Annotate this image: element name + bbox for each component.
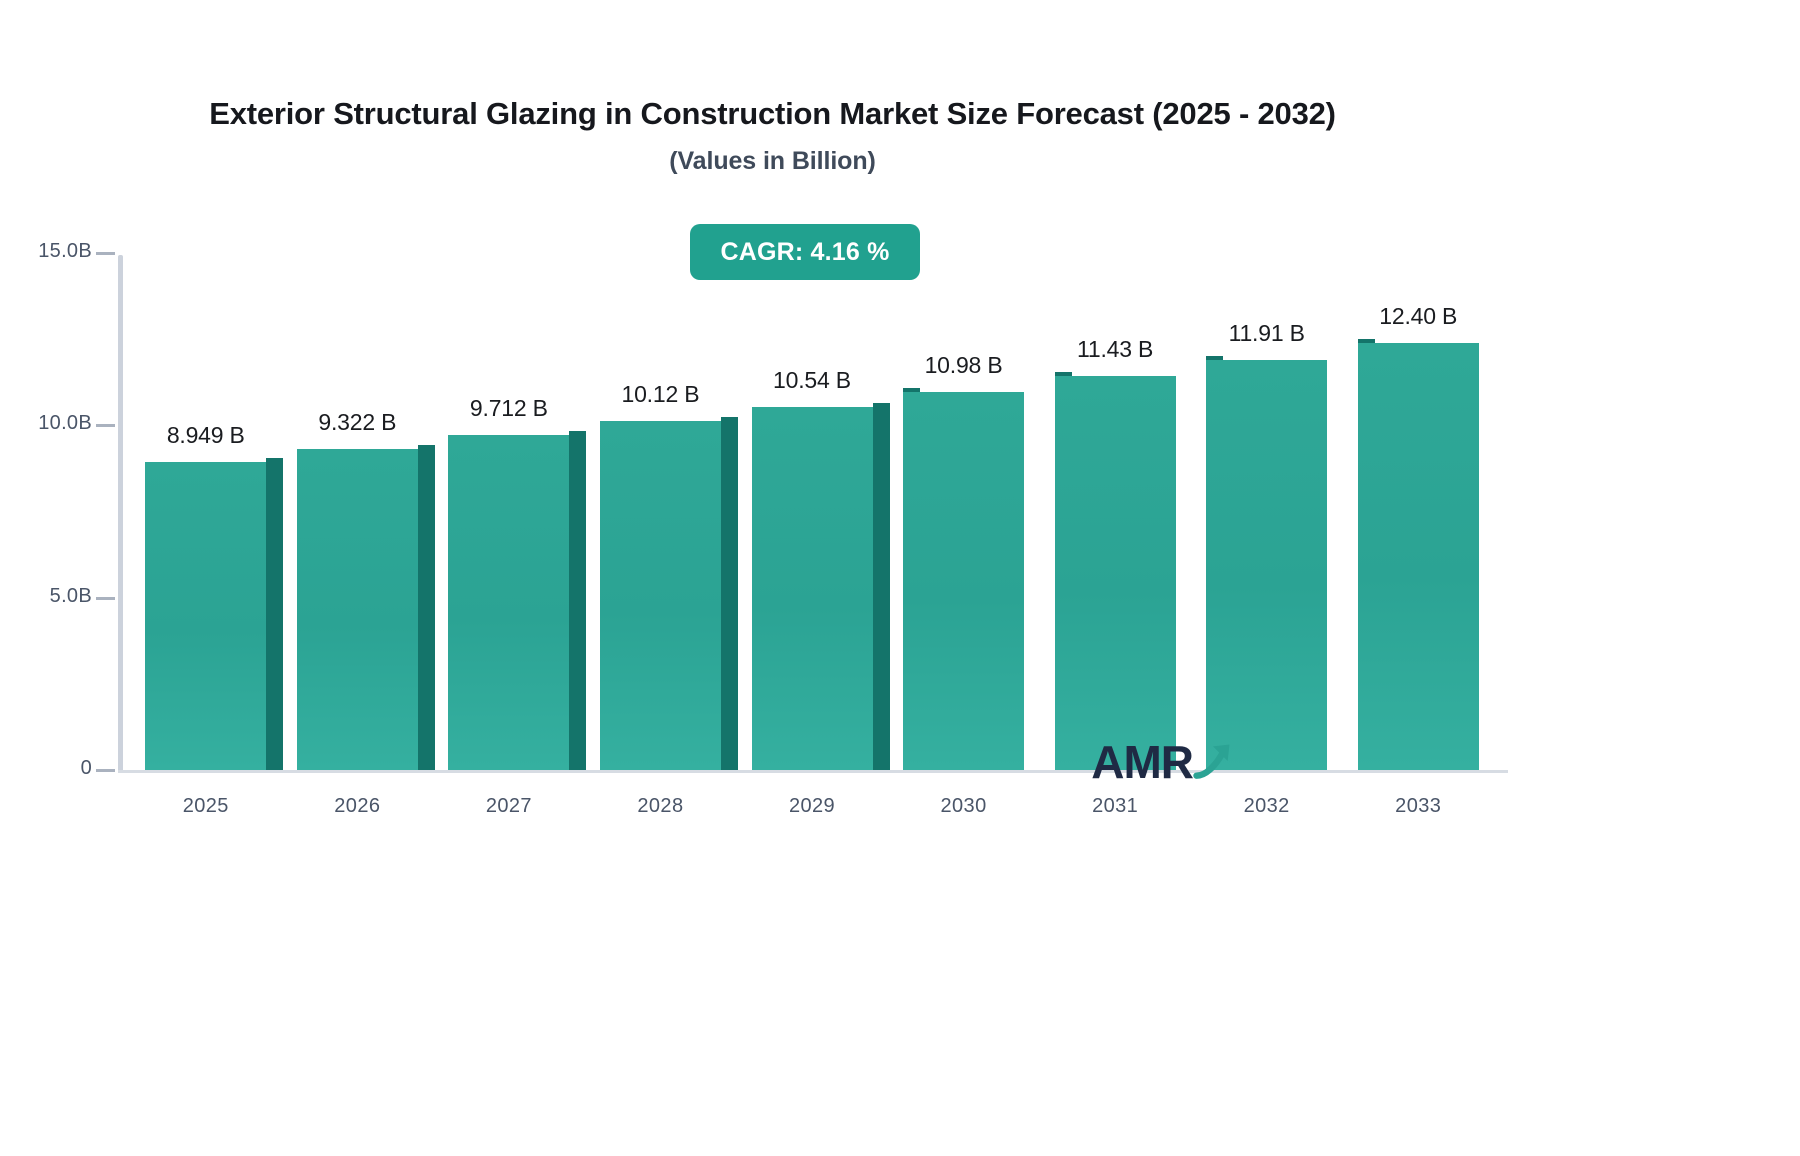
y-axis-tick-label: 5.0B — [0, 585, 92, 608]
bar-front-face — [1055, 376, 1176, 770]
bar — [448, 435, 569, 770]
bar-side-face — [873, 403, 890, 770]
bar-side-face — [721, 417, 738, 770]
y-axis-tick-label: 0 — [0, 757, 92, 780]
amr-logo: AMR — [1091, 739, 1235, 785]
bar-side-face — [418, 445, 435, 770]
bar — [1055, 376, 1176, 770]
bar-front-face — [903, 392, 1024, 770]
bar — [145, 462, 266, 770]
bar-front-face — [600, 421, 721, 770]
bar — [1206, 360, 1327, 770]
chart-canvas: Exterior Structural Glazing in Construct… — [0, 0, 1545, 990]
bar-front-face — [1358, 343, 1479, 770]
y-axis-tick-mark — [96, 597, 115, 600]
chart-subtitle: (Values in Billion) — [0, 147, 1545, 176]
bar-front-face — [752, 407, 873, 770]
bar — [903, 392, 1024, 770]
y-axis-tick-mark — [96, 252, 115, 255]
growth-arrow-icon — [1191, 739, 1235, 783]
bar — [1358, 343, 1479, 770]
bar-front-face — [297, 449, 418, 770]
y-axis-tick-mark — [96, 769, 115, 772]
chart-title: Exterior Structural Glazing in Construct… — [0, 96, 1545, 132]
bar — [600, 421, 721, 770]
x-axis-tick-label: 2033 — [1308, 795, 1528, 818]
amr-logo-text: AMR — [1091, 739, 1193, 785]
bar-value-label: 12.40 B — [1308, 303, 1528, 330]
bar-side-face — [266, 458, 283, 770]
y-axis-tick-label: 10.0B — [0, 412, 92, 435]
bar — [752, 407, 873, 770]
bar-front-face — [145, 462, 266, 770]
y-axis-tick-label: 15.0B — [0, 240, 92, 263]
bar-side-face — [569, 431, 586, 770]
bar — [297, 449, 418, 770]
bar-front-face — [1206, 360, 1327, 770]
bar-front-face — [448, 435, 569, 770]
